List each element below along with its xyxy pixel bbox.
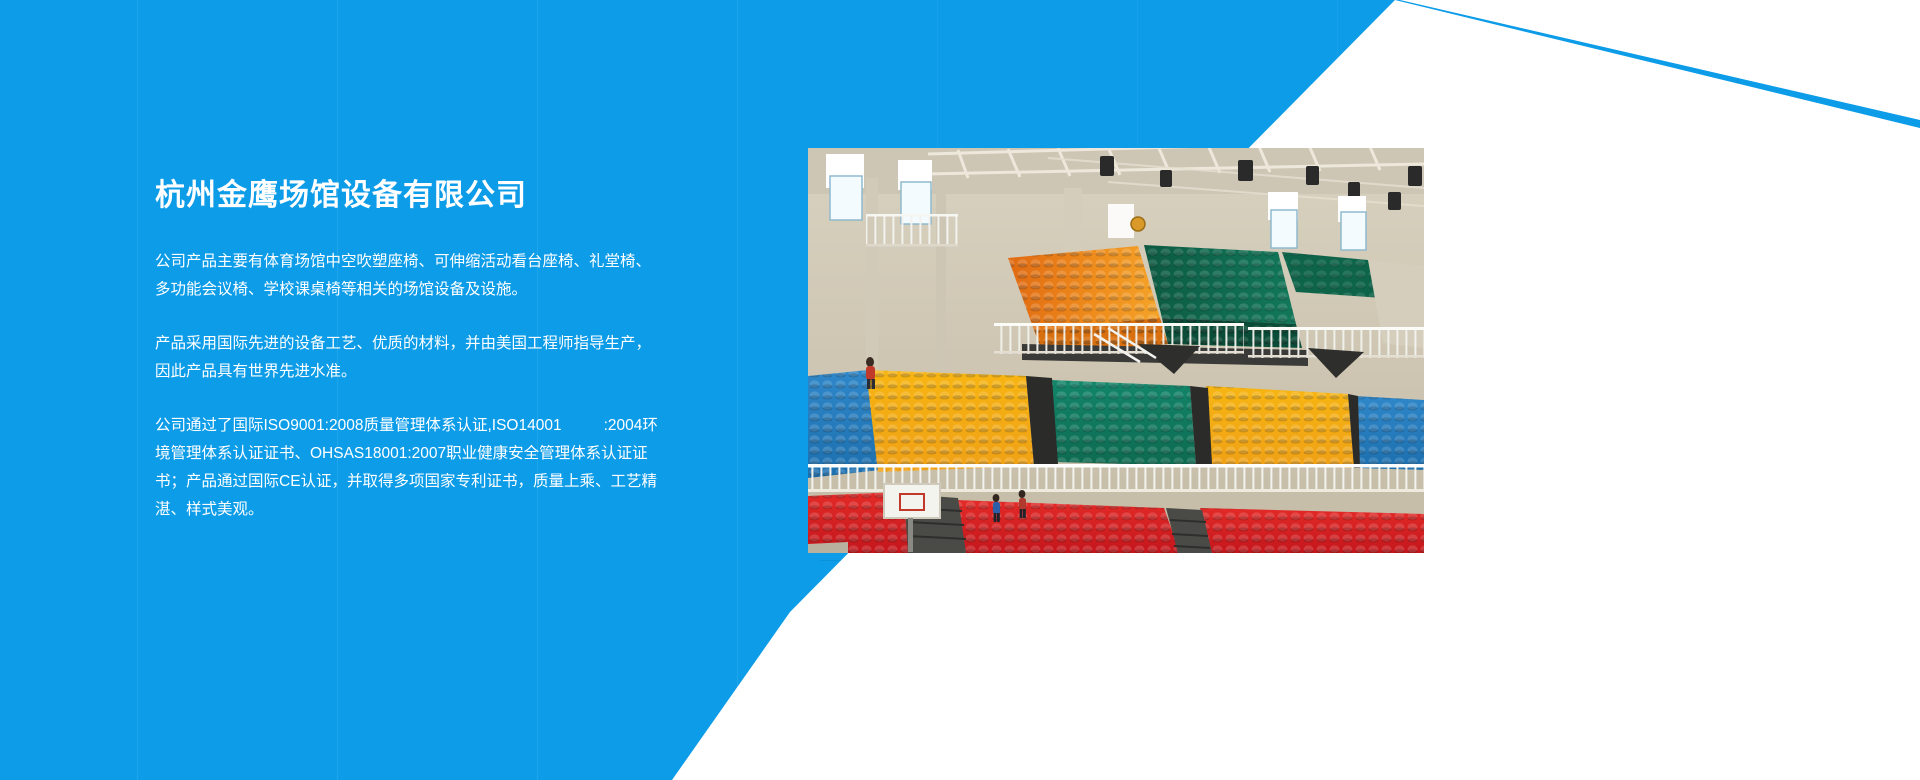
arena-seating-photo [808,148,1424,553]
paragraph-products: 公司产品主要有体育场馆中空吹塑座椅、可伸缩活动看台座椅、礼堂椅、多功能会议椅、学… [155,248,665,304]
person-figure [866,357,875,389]
paragraph-quality: 产品采用国际先进的设备工艺、优质的材料，并由美国工程师指导生产，因此产品具有世界… [155,330,665,386]
hero-banner: 杭州金鹰场馆设备有限公司 公司产品主要有体育场馆中空吹塑座椅、可伸缩活动看台座椅… [0,0,1920,780]
text-column: 杭州金鹰场馆设备有限公司 公司产品主要有体育场馆中空吹塑座椅、可伸缩活动看台座椅… [155,178,665,524]
page-title: 杭州金鹰场馆设备有限公司 [155,178,665,214]
paragraph-certifications: 公司通过了国际ISO9001:2008质量管理体系认证,ISO14001:200… [155,412,665,524]
cert-text-part1: 公司通过了国际ISO9001:2008质量管理体系认证,ISO14001 [155,417,562,434]
